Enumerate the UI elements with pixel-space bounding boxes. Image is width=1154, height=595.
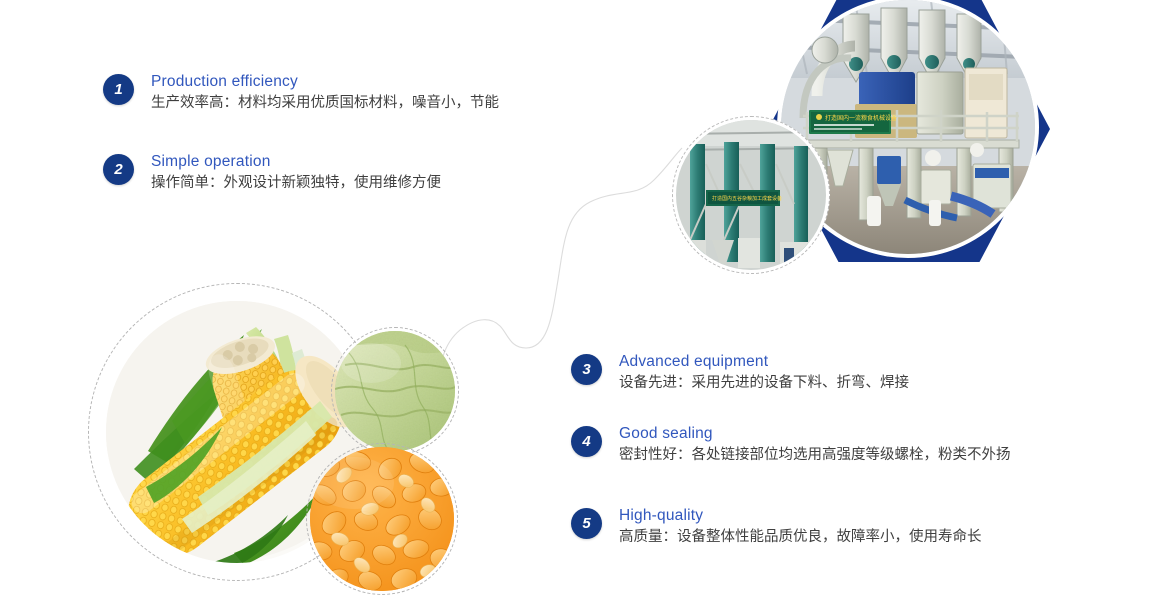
feature-description-5: 高质量：设备整体性能品质优良，故障率小，使用寿命长 <box>619 526 982 548</box>
feature-description-4: 密封性好：各处链接部位均选用高强度等级螺栓，粉类不外扬 <box>619 444 1011 466</box>
green-milling-machinery-photo: 打造国内五谷杂粮加工成套设备 <box>672 116 830 274</box>
feature-item-1: 1 Production efficiency 生产效率高：材料均采用优质国标材… <box>103 72 499 114</box>
feature-description-1: 生产效率高：材料均采用优质国标材料，噪音小，节能 <box>151 92 499 114</box>
feature-text-1: Production efficiency 生产效率高：材料均采用优质国标材料，… <box>151 72 499 114</box>
feature-title-1: Production efficiency <box>151 72 499 91</box>
feature-text-3: Advanced equipment 设备先进：采用先进的设备下料、折弯、焊接 <box>619 352 909 394</box>
hexagon-photo-group: 打造国内一流粮食机械设备 <box>668 0 1068 268</box>
infographic-canvas: 打造国内一流粮食机械设备 <box>0 0 1154 591</box>
feature-item-4: 4 Good sealing 密封性好：各处链接部位均选用高强度等级螺栓，粉类不… <box>571 424 1011 466</box>
feature-number-badge-2: 2 <box>103 154 134 185</box>
feature-item-5: 5 High-quality 高质量：设备整体性能品质优良，故障率小，使用寿命长 <box>571 506 982 548</box>
feature-description-3: 设备先进：采用先进的设备下料、折弯、焊接 <box>619 372 909 394</box>
feature-text-5: High-quality 高质量：设备整体性能品质优良，故障率小，使用寿命长 <box>619 506 982 548</box>
feature-description-2: 操作简单：外观设计新颖独特，使用维修方便 <box>151 172 441 194</box>
feature-number-badge-4: 4 <box>571 426 602 457</box>
corn-photo-group <box>88 283 458 588</box>
feature-title-3: Advanced equipment <box>619 352 909 371</box>
svg-text:打造国内五谷杂粮加工成套设备: 打造国内五谷杂粮加工成套设备 <box>712 195 782 202</box>
feature-number-badge-3: 3 <box>571 354 602 385</box>
feature-title-2: Simple operation <box>151 152 441 171</box>
svg-text:打造国内一流粮食机械设备: 打造国内一流粮食机械设备 <box>825 114 897 122</box>
feature-number-badge-5: 5 <box>571 508 602 539</box>
feature-number-badge-1: 1 <box>103 74 134 105</box>
feature-item-2: 2 Simple operation 操作简单：外观设计新颖独特，使用维修方便 <box>103 152 441 194</box>
feature-text-2: Simple operation 操作简单：外观设计新颖独特，使用维修方便 <box>151 152 441 194</box>
corn-meal-photo <box>335 331 455 451</box>
feature-item-3: 3 Advanced equipment 设备先进：采用先进的设备下料、折弯、焊… <box>571 352 909 394</box>
feature-title-5: High-quality <box>619 506 982 525</box>
corn-kernels-photo <box>310 447 454 591</box>
feature-text-4: Good sealing 密封性好：各处链接部位均选用高强度等级螺栓，粉类不外扬 <box>619 424 1011 466</box>
feature-title-4: Good sealing <box>619 424 1011 443</box>
